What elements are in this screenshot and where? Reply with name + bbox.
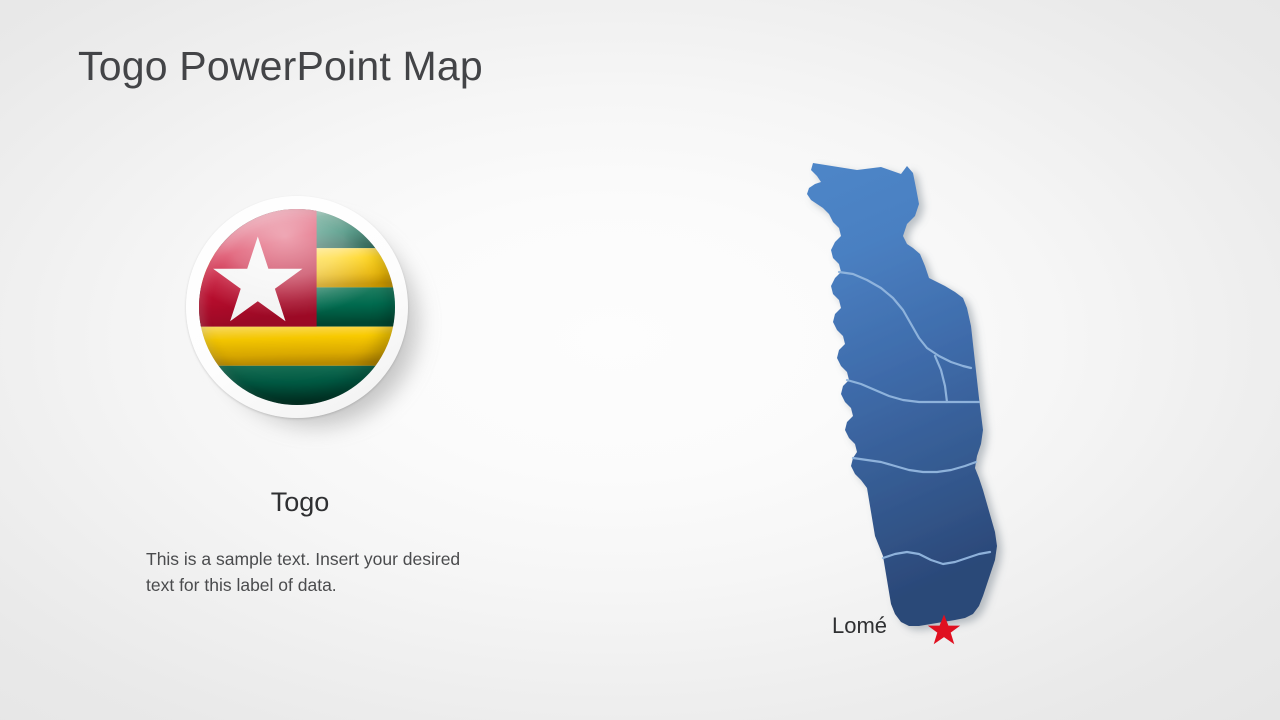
slide-canvas: Togo PowerPoint Map: [0, 0, 1280, 720]
capital-city-label: Lomé: [832, 613, 887, 639]
sample-text-label: This is a sample text. Insert your desir…: [146, 546, 461, 598]
flag-badge[interactable]: [186, 196, 408, 418]
page-title: Togo PowerPoint Map: [78, 43, 483, 90]
togo-country-map-icon[interactable]: [795, 148, 1010, 648]
togo-flag-circle-icon: [199, 209, 395, 405]
country-name-label: Togo: [150, 487, 450, 518]
red-star-marker-icon[interactable]: [926, 612, 962, 648]
